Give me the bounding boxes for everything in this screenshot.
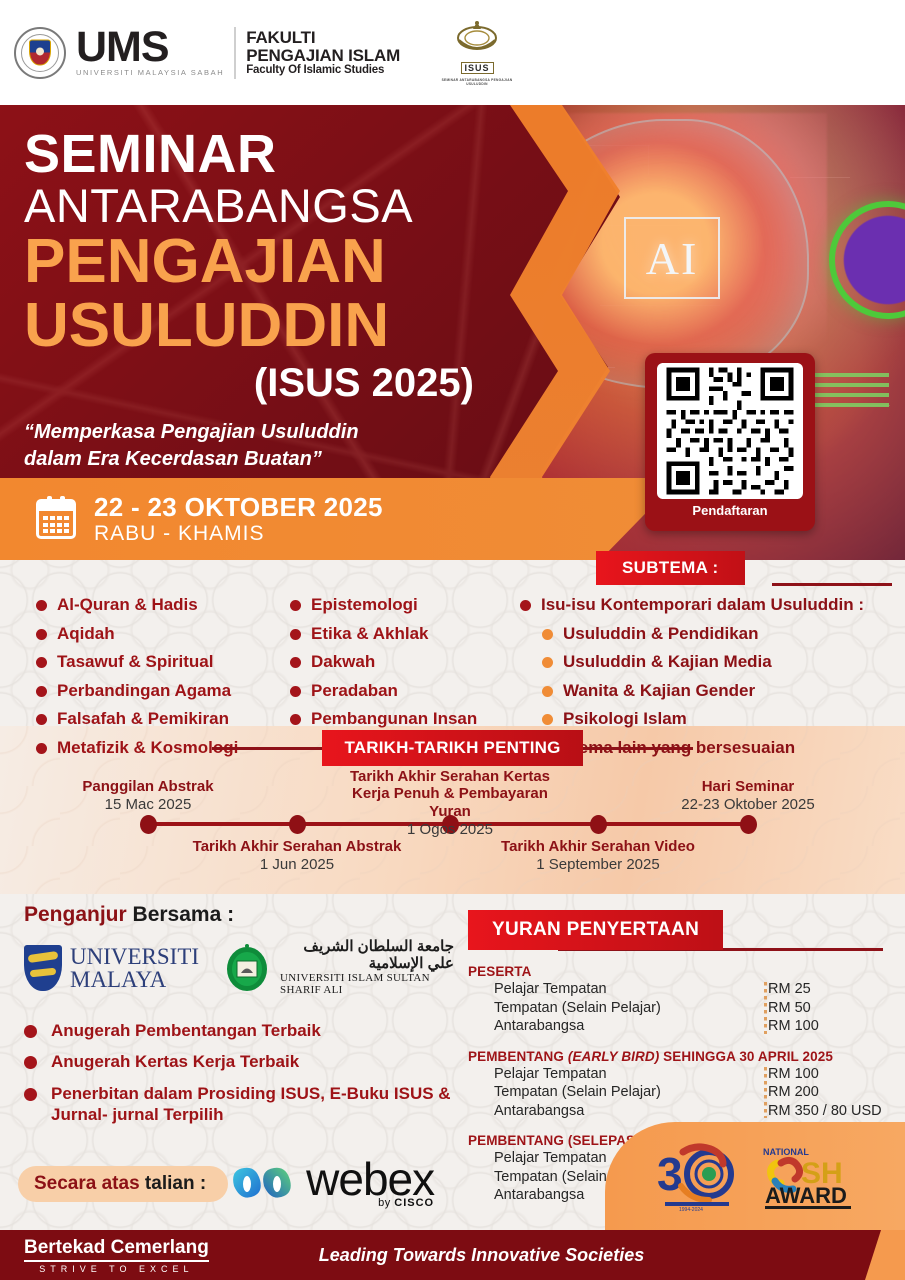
fee-head-tail: SEHINGGA 30 APRIL 2025 [659, 1049, 833, 1064]
hero-quote: “Memperkasa Pengajian Usuluddin dalam Er… [24, 419, 474, 473]
timeline-title: Tarikh Akhir Serahan Video [478, 838, 718, 855]
bullet-icon [542, 657, 553, 668]
subtema-item-label: Wanita & Kajian Gender [563, 681, 755, 701]
footer-motto: Bertekad Cemerlang [24, 1237, 209, 1262]
webex-logo: webex by CISCO [226, 1158, 434, 1210]
fee-value: RM 100 [768, 1065, 819, 1084]
subtema-heading-wrap: SUBTEMA : [596, 551, 745, 585]
subtema-rule [772, 583, 892, 586]
webex-wordmark: webex [306, 1159, 434, 1200]
universiti-malaya-logo: UNIVERSITI MALAYA [24, 945, 199, 991]
bullet-icon [36, 686, 47, 697]
unissa-crest-icon [221, 943, 273, 993]
timeline-date: 1 September 2025 [478, 855, 718, 875]
award-item: Penerbitan dalam Prosiding ISUS, E-Buku … [24, 1083, 454, 1126]
timeline-date: 1 Jun 2025 [177, 855, 417, 875]
timeline-heading: TARIKH-TARIKH PENTING [322, 730, 582, 766]
subtema-item-label: Al-Quran & Hadis [57, 595, 198, 615]
organiser-logos: UNIVERSITI MALAYA جامعة السلطا [24, 939, 454, 996]
date-sub: RABU - KHAMIS [94, 522, 383, 545]
subtema-item-label: Usuluddin & Pendidikan [563, 624, 759, 644]
webex-by: by [378, 1197, 394, 1209]
svg-text:AWARD: AWARD [765, 1183, 847, 1208]
fee-row: AntarabangsaRM 100 [494, 1017, 888, 1036]
subtema-item: Usuluddin & Pendidikan [542, 624, 900, 644]
divider [234, 27, 236, 79]
subtema-item: Falsafah & Pemikiran [36, 709, 286, 729]
timeline-date: 15 Mac 2025 [28, 795, 268, 815]
fee-label: Pelajar Tempatan [494, 980, 768, 999]
subtema-item: Etika & Akhlak [290, 624, 520, 644]
bullet-icon [290, 629, 301, 640]
bullet-icon [542, 714, 553, 725]
ums-wordmark: UMS UNIVERSITI MALAYSIA SABAH [76, 28, 224, 77]
ai-badge: AI [624, 217, 720, 299]
subtema-item-label: Pembangunan Insan [311, 709, 477, 729]
unissa-arabic: جامعة السلطان الشريف علي الإسلامية [280, 939, 454, 972]
fee-head-plain: PESERTA [468, 964, 531, 979]
timeline-date: 22-23 Oktober 2025 [628, 795, 868, 815]
subtema-item: Tasawuf & Spiritual [36, 652, 286, 672]
timeline-dot [590, 815, 607, 834]
subtema-item-label: Falsafah & Pemikiran [57, 709, 229, 729]
title-seminar: SEMINAR [24, 127, 474, 181]
subtema-item-label: Tasawuf & Spiritual [57, 652, 214, 672]
subtema-item-label: Peradaban [311, 681, 398, 701]
fee-label: Tempatan (Selain Pelajar) [494, 999, 768, 1018]
fee-head-plain: PEMBENTANG [468, 1049, 568, 1064]
subtema-item: Epistemologi [290, 595, 520, 615]
award-label: Anugerah Pembentangan Terbaik [51, 1020, 321, 1041]
bullet-icon [36, 600, 47, 611]
fee-value: RM 25 [768, 980, 811, 999]
subtema-item-label: Perbandingan Agama [57, 681, 231, 701]
online-label-light: Secara atas [34, 1173, 145, 1194]
award-item: Anugerah Kertas Kerja Terbaik [24, 1051, 454, 1072]
hud-horizontal-bars [815, 373, 889, 413]
subtema-item: Pembangunan Insan [290, 709, 520, 729]
hero-quote-line-2: dalam Era Kecerdasan Buatan” [24, 446, 474, 473]
subtema-column-2: EpistemologiEtika & AkhlakDakwahPeradaba… [290, 595, 520, 738]
bullet-icon [542, 629, 553, 640]
organisers-title: Penganjur Bersama : [24, 903, 454, 927]
bullet-icon [24, 1056, 37, 1069]
registration-qr-card[interactable]: Pendaftaran [645, 353, 815, 531]
faculty-line-1: FAKULTI [246, 29, 400, 47]
online-platform-section: Secara atas talian : webex by CISC [18, 1158, 434, 1210]
fee-label: Antarabangsa [494, 1017, 768, 1036]
isus-tagline: SEMINAR ANTARABANGSA PENGAJIAN USULUDDIN [436, 78, 518, 86]
bullet-icon [290, 686, 301, 697]
timeline-dot [289, 815, 306, 834]
unissa-english: UNIVERSITI ISLAM SULTAN SHARIF ALI [280, 972, 454, 996]
ums-crest-icon [14, 27, 66, 79]
subtema-item-label: Epistemologi [311, 595, 418, 615]
webex-mark-icon [226, 1158, 298, 1210]
fee-label: Tempatan (Selain Pelajar) [494, 1083, 768, 1102]
fee-row: Tempatan (Selain Pelajar)RM 200 [494, 1083, 888, 1102]
um-line-2: MALAYA [70, 968, 199, 991]
ums-subtitle: UNIVERSITI MALAYSIA SABAH [76, 68, 224, 77]
svg-text:NATIONAL: NATIONAL [763, 1147, 809, 1157]
unissa-logo: جامعة السلطان الشريف علي الإسلامية UNIVE… [221, 939, 454, 996]
um-name: UNIVERSITI MALAYA [70, 945, 199, 991]
webex-text: webex by CISCO [306, 1159, 434, 1208]
svg-text:3: 3 [657, 1148, 683, 1200]
isus-crest-icon [455, 20, 499, 58]
timeline-heading-wrap: TARIKH-TARIKH PENTING [0, 730, 905, 766]
bullet-icon [520, 600, 531, 611]
footer-orange-accent [865, 1230, 905, 1280]
qr-code-image[interactable] [657, 363, 803, 499]
timeline-milestone: Tarikh Akhir Serahan Kertas Kerja Penuh … [330, 768, 570, 839]
hero-quote-line-1: “Memperkasa Pengajian Usuluddin [24, 419, 474, 446]
qr-label: Pendaftaran [692, 503, 767, 518]
um-shield-icon [24, 945, 62, 991]
bullet-icon [36, 657, 47, 668]
ums-30-years-logo: 3 1994-2024 [653, 1140, 741, 1212]
fee-value: RM 200 [768, 1083, 819, 1102]
fee-rows: Pelajar TempatanRM 25Tempatan (Selain Pe… [468, 980, 888, 1036]
bullet-icon [36, 629, 47, 640]
subtema-item-label: Aqidah [57, 624, 115, 644]
timeline-date: 1 Ogos 2025 [330, 820, 570, 840]
subtema-item: Usuluddin & Kajian Media [542, 652, 900, 672]
cisco-brand: CISCO [394, 1197, 434, 1209]
svg-text:1994-2024: 1994-2024 [679, 1207, 703, 1212]
bullet-icon [290, 714, 301, 725]
bullet-icon [290, 657, 301, 668]
footer-motto-block: Bertekad Cemerlang STRIVE TO EXCEL [24, 1237, 209, 1274]
fees-heading: YURAN PENYERTAAN [468, 910, 723, 950]
award-item: Anugerah Pembentangan Terbaik [24, 1020, 454, 1041]
subtema-item-label: Usuluddin & Kajian Media [563, 652, 772, 672]
subtema-item: Dakwah [290, 652, 520, 672]
title-pengajian: PENGAJIAN [24, 230, 474, 293]
date-banner: 22 - 23 OKTOBER 2025 RABU - KHAMIS [0, 478, 680, 560]
bullet-icon [24, 1025, 37, 1038]
timeline-rule-left [212, 747, 322, 750]
timeline-title: Panggilan Abstrak [28, 778, 268, 795]
isus-logo: ISUS SEMINAR ANTARABANGSA PENGAJIAN USUL… [436, 20, 518, 86]
timeline-milestone: Tarikh Akhir Serahan Video1 September 20… [478, 838, 718, 875]
timeline-milestone: Tarikh Akhir Serahan Abstrak1 Jun 2025 [177, 838, 417, 875]
bullet-icon [290, 600, 301, 611]
fee-value: RM 50 [768, 999, 811, 1018]
faculty-name: FAKULTI PENGAJIAN ISLAM Faculty Of Islam… [246, 29, 400, 77]
national-osh-award-logo: NATIONAL SH AWARD [761, 1141, 857, 1211]
fee-rows: Pelajar TempatanRM 100Tempatan (Selain P… [468, 1065, 888, 1121]
fee-row: AntarabangsaRM 350 / 80 USD [494, 1102, 888, 1121]
date-main: 22 - 23 OKTOBER 2025 [94, 493, 383, 522]
fee-row: Tempatan (Selain Pelajar)RM 50 [494, 999, 888, 1018]
date-text: 22 - 23 OKTOBER 2025 RABU - KHAMIS [94, 493, 383, 545]
ums-word: UMS [76, 28, 224, 67]
fee-label: Antarabangsa [494, 1102, 768, 1121]
subtema-item: Al-Quran & Hadis [36, 595, 286, 615]
subtema-item: Peradaban [290, 681, 520, 701]
fee-row: Pelajar TempatanRM 25 [494, 980, 888, 999]
timeline-milestone: Panggilan Abstrak15 Mac 2025 [28, 778, 268, 815]
award-label: Anugerah Kertas Kerja Terbaik [51, 1051, 299, 1072]
title-isus-2025: (ISUS 2025) [24, 357, 474, 409]
awards-list: Anugerah Pembentangan TerbaikAnugerah Ke… [24, 1020, 454, 1125]
fee-head-italic: (EARLY BIRD) [568, 1049, 659, 1064]
subtema-item-label: Isu-isu Kontemporari dalam Usuluddin : [541, 595, 864, 615]
fee-row: Pelajar TempatanRM 100 [494, 1065, 888, 1084]
subtema-item: Psikologi Islam [542, 709, 900, 729]
title-antarabangsa: ANTARABANGSA [24, 181, 474, 230]
logo-bar: UMS UNIVERSITI MALAYSIA SABAH FAKULTI PE… [0, 0, 905, 105]
subtema-item-label: Psikologi Islam [563, 709, 687, 729]
fee-label: Pelajar Tempatan [494, 1065, 768, 1084]
fee-group-heading: PEMBENTANG (EARLY BIRD) SEHINGGA 30 APRI… [468, 1049, 888, 1064]
subtema-item: Aqidah [36, 624, 286, 644]
timeline-title: Hari Seminar [628, 778, 868, 795]
bullet-icon [542, 686, 553, 697]
fee-group-heading: PESERTA [468, 964, 888, 979]
um-line-1: UNIVERSITI [70, 945, 199, 968]
timeline-title: Tarikh Akhir Serahan Kertas Kerja Penuh … [330, 768, 570, 820]
footer-motto-sub: STRIVE TO EXCEL [24, 1264, 209, 1274]
organisers-title-bold: Bersama : [133, 903, 235, 926]
online-label-bold: talian : [145, 1173, 206, 1194]
bullet-icon [24, 1088, 37, 1101]
timeline-title: Tarikh Akhir Serahan Abstrak [177, 838, 417, 855]
fee-value: RM 350 / 80 USD [768, 1102, 882, 1121]
footer-tagline: Leading Towards Innovative Societies [319, 1245, 644, 1266]
subtema-item: Isu-isu Kontemporari dalam Usuluddin : [520, 595, 900, 615]
organisers-title-light: Penganjur [24, 903, 133, 926]
sponsor-band: 3 1994-2024 NATIONAL SH AWARD [605, 1122, 905, 1230]
subtema-item-label: Dakwah [311, 652, 375, 672]
faculty-line-2: PENGAJIAN ISLAM [246, 47, 400, 65]
isus-name: ISUS [461, 62, 494, 74]
unissa-text: جامعة السلطان الشريف علي الإسلامية UNIVE… [280, 939, 454, 996]
calendar-icon [36, 499, 76, 539]
poster-root: UMS UNIVERSITI MALAYSIA SABAH FAKULTI PE… [0, 0, 905, 1280]
title-usuluddin: USULUDDIN [24, 294, 474, 357]
fee-group: PEMBENTANG (EARLY BIRD) SEHINGGA 30 APRI… [468, 1049, 888, 1121]
fee-value: RM 100 [768, 1017, 819, 1036]
award-label: Penerbitan dalam Prosiding ISUS, E-Buku … [51, 1083, 454, 1126]
timeline-rule-right [583, 747, 693, 750]
bullet-icon [36, 714, 47, 725]
online-label: Secara atas talian : [18, 1166, 228, 1202]
faculty-line-3: Faculty Of Islamic Studies [246, 64, 400, 76]
hero-title-block: SEMINAR ANTARABANGSA PENGAJIAN USULUDDIN… [24, 127, 474, 473]
timeline-milestone: Hari Seminar22-23 Oktober 2025 [628, 778, 868, 815]
timeline-dot [740, 815, 757, 834]
organisers-section: Penganjur Bersama : UNIVERSITI MALAYA [24, 903, 454, 1135]
subtema-heading: SUBTEMA : [596, 551, 745, 585]
subtema-item-label: Etika & Akhlak [311, 624, 428, 644]
footer-bar: Bertekad Cemerlang STRIVE TO EXCEL Leadi… [0, 1230, 905, 1280]
timeline-dot [140, 815, 157, 834]
fee-group: PESERTAPelajar TempatanRM 25Tempatan (Se… [468, 964, 888, 1036]
subtema-item: Perbandingan Agama [36, 681, 286, 701]
subtema-item: Wanita & Kajian Gender [542, 681, 900, 701]
